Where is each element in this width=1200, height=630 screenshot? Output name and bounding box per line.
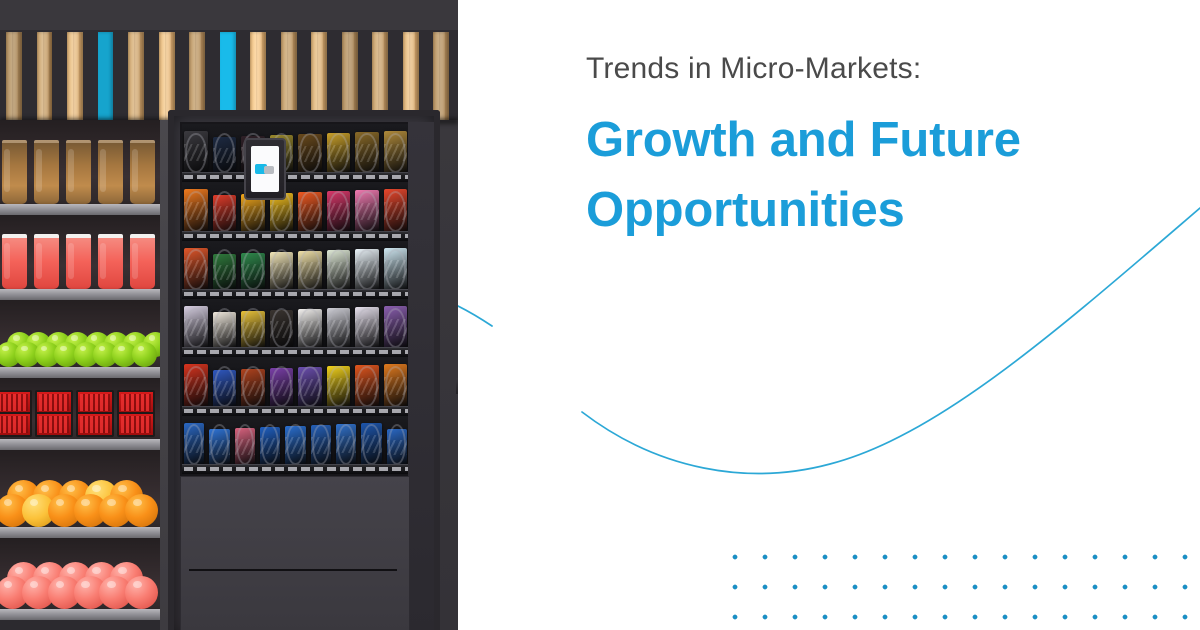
dispensing-coil xyxy=(299,191,321,232)
product-dispensing-flap xyxy=(189,569,397,571)
dispensing-coil xyxy=(214,308,236,349)
shelf-board xyxy=(0,204,160,215)
page-kicker: Trends in Micro-Markets: xyxy=(586,52,921,86)
wood-slat xyxy=(311,32,327,120)
wood-slat-accent xyxy=(98,32,114,120)
candy-cup xyxy=(2,234,27,289)
wood-slat-panel xyxy=(0,30,458,120)
candy-cup xyxy=(34,234,59,289)
dispensing-coil xyxy=(299,366,321,407)
shelf-snack-cups xyxy=(0,120,160,215)
dispensing-coil xyxy=(185,249,207,290)
shelf-berry-punnets xyxy=(0,378,160,450)
vending-row xyxy=(182,416,410,474)
dispensing-coil xyxy=(185,133,207,174)
shelf-board xyxy=(0,527,160,538)
orange-fruit xyxy=(125,494,158,527)
wood-slat xyxy=(67,32,83,120)
berry-punnet xyxy=(35,412,73,437)
dispensing-coil xyxy=(356,249,378,290)
vending-machine-lower-cabinet xyxy=(180,476,410,630)
dispensing-coil xyxy=(385,249,407,290)
price-label-rail xyxy=(182,347,410,357)
dispensing-coil xyxy=(299,133,321,174)
dispensing-coil xyxy=(356,308,378,349)
snack-cup xyxy=(34,140,59,204)
wood-slat xyxy=(403,32,419,120)
snack-cup xyxy=(130,140,155,204)
dispensing-coil xyxy=(214,133,236,174)
dispensing-coil xyxy=(328,191,350,232)
dispensing-coil xyxy=(271,366,293,407)
terminal-screen xyxy=(251,146,279,192)
wood-slat xyxy=(37,32,53,120)
vending-machine-side-panel xyxy=(408,122,434,630)
dispensing-coil xyxy=(385,308,407,349)
dispensing-coil xyxy=(271,308,293,349)
wood-slat xyxy=(372,32,388,120)
wood-slat xyxy=(128,32,144,120)
page-title: Growth and Future Opportunities xyxy=(586,106,1186,245)
dispensing-coil xyxy=(362,424,380,465)
shelf-oranges xyxy=(0,450,160,538)
dispensing-coil xyxy=(328,133,350,174)
dispensing-coil xyxy=(385,366,407,407)
snack-vending-machine xyxy=(168,110,440,630)
wood-slat xyxy=(159,32,175,120)
berry-punnet xyxy=(76,412,114,437)
wood-slat-accent xyxy=(220,32,236,120)
vending-machine-glass xyxy=(180,122,412,476)
dispensing-coil xyxy=(214,366,236,407)
credit-card-icon xyxy=(255,163,275,175)
poster-canvas: Trends in Micro-Markets: Growth and Futu… xyxy=(0,0,1200,630)
shelf-pink-apples xyxy=(0,538,160,620)
wood-slat xyxy=(281,32,297,120)
dispensing-coil xyxy=(185,308,207,349)
micro-market-photo xyxy=(0,0,458,630)
dispensing-coil xyxy=(236,424,254,465)
green-apple xyxy=(132,342,157,367)
price-label-rail xyxy=(182,464,410,474)
vending-row xyxy=(182,182,410,240)
dispensing-coil xyxy=(388,424,406,465)
dispensing-coil xyxy=(185,366,207,407)
dispensing-coil xyxy=(286,424,304,465)
shelf-green-apples xyxy=(0,300,160,378)
berry-punnet xyxy=(117,412,155,437)
price-label-rail xyxy=(182,231,410,241)
price-label-rail xyxy=(182,406,410,416)
shelf-candy-cups xyxy=(0,215,160,300)
dispensing-coil xyxy=(356,366,378,407)
dispensing-coil xyxy=(214,191,236,232)
candy-cup xyxy=(130,234,155,289)
snack-cup xyxy=(98,140,123,204)
dispensing-coil xyxy=(385,133,407,174)
berry-punnet xyxy=(0,412,32,437)
vending-row xyxy=(182,299,410,357)
dispensing-coil xyxy=(242,249,264,290)
snack-cup xyxy=(66,140,91,204)
wood-slat xyxy=(250,32,266,120)
price-label-rail xyxy=(182,172,410,182)
dispensing-coil xyxy=(328,366,350,407)
dispensing-coil xyxy=(214,249,236,290)
dispensing-coil xyxy=(299,308,321,349)
shelf-board xyxy=(0,289,160,300)
wood-slat xyxy=(189,32,205,120)
dispensing-coil xyxy=(242,366,264,407)
dispensing-coil xyxy=(385,191,407,232)
cooler-interior xyxy=(0,120,160,630)
vending-row xyxy=(182,241,410,299)
dispensing-coil xyxy=(185,191,207,232)
dispensing-coil xyxy=(210,424,228,465)
vending-row xyxy=(182,357,410,415)
dispensing-coil xyxy=(299,249,321,290)
vending-row xyxy=(182,124,410,182)
dispensing-coil xyxy=(242,308,264,349)
candy-cup xyxy=(98,234,123,289)
dispensing-coil xyxy=(328,249,350,290)
pink-apple xyxy=(125,576,158,609)
shelf-board xyxy=(0,367,160,378)
dispensing-coil xyxy=(312,424,330,465)
candy-cup xyxy=(66,234,91,289)
shelf-board xyxy=(0,439,160,450)
card-payment-terminal[interactable] xyxy=(244,138,286,200)
dispensing-coil xyxy=(271,249,293,290)
wood-slat xyxy=(342,32,358,120)
dispensing-coil xyxy=(356,133,378,174)
price-label-rail xyxy=(182,289,410,299)
snack-cup xyxy=(2,140,27,204)
wall-top-band xyxy=(0,0,458,30)
dispensing-coil xyxy=(356,191,378,232)
dispensing-coil xyxy=(328,308,350,349)
dot-grid xyxy=(718,534,1200,630)
wood-slat xyxy=(6,32,22,120)
content-panel: Trends in Micro-Markets: Growth and Futu… xyxy=(458,0,1200,630)
open-front-cooler xyxy=(0,120,172,630)
shelf-board xyxy=(0,609,160,620)
wood-slat xyxy=(433,32,449,120)
